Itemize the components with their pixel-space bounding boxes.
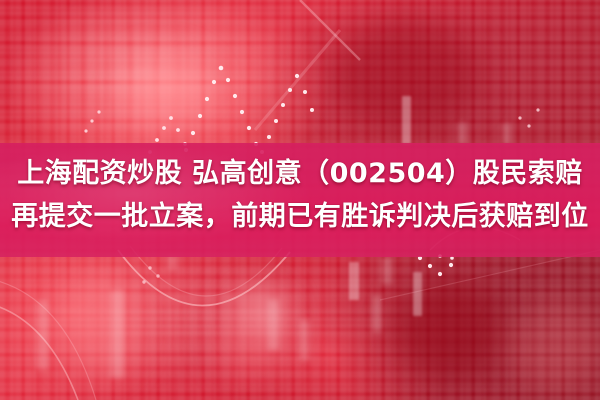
banner-image: 上海配资炒股 弘高创意（002504）股民索赔 再提交一批立案，前期已有胜诉判决… [0, 0, 600, 400]
candlestick-bar [300, 320, 310, 360]
candlestick-bar [502, 123, 511, 144]
candlestick-bar [372, 296, 382, 332]
candlestick-bar [457, 122, 467, 144]
headline-line-1: 上海配资炒股 弘高创意（002504）股民索赔 [0, 152, 600, 195]
candlestick-bar [349, 262, 359, 300]
candlestick-bar [413, 272, 422, 316]
candlestick-bar [402, 96, 411, 144]
page-title: 上海配资炒股 弘高创意（002504）股民索赔 再提交一批立案，前期已有胜诉判决… [0, 152, 600, 238]
candlestick-bar [268, 300, 279, 350]
headline-line-2: 再提交一批立案，前期已有胜诉判决后获赔到位 [0, 195, 600, 238]
candlestick-bar [381, 258, 392, 284]
candlestick-bar [36, 300, 48, 370]
candlestick-bar [168, 255, 177, 269]
candlestick-bar [110, 290, 124, 378]
